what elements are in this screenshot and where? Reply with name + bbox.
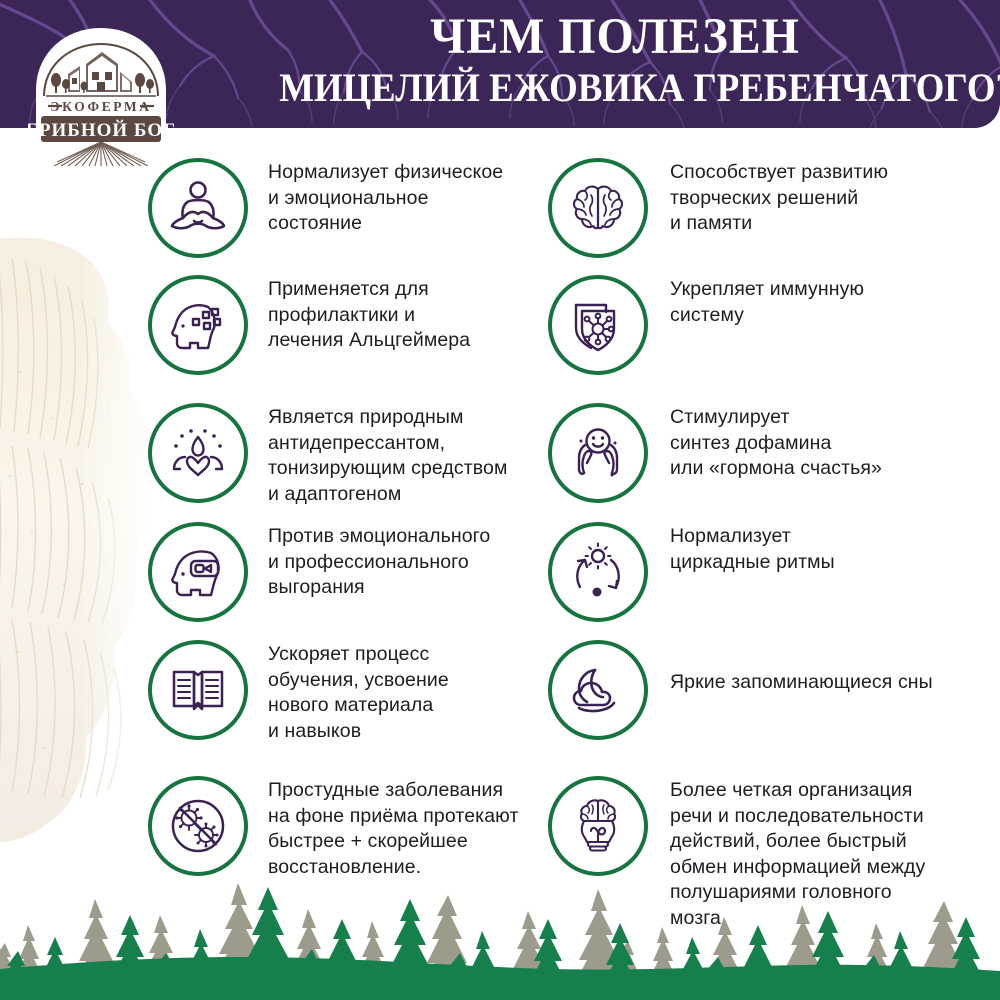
benefit-text: Нормализует физическое и эмоциональное с… xyxy=(268,160,568,237)
badge-circle xyxy=(548,522,648,622)
badge-circle xyxy=(548,403,648,503)
brain-icon xyxy=(569,179,627,237)
benefit-text: Против эмоционального и профессиональног… xyxy=(268,524,568,601)
badge-circle xyxy=(148,403,248,503)
badge-circle xyxy=(548,776,648,876)
badge-circle xyxy=(148,522,248,622)
benefit-text: Более четкая организация речи и последов… xyxy=(670,778,1000,931)
badge-circle xyxy=(148,275,248,375)
benefit-text: Является природным антидепрессантом, тон… xyxy=(268,405,568,507)
moon-cloud-dreams-icon xyxy=(568,660,628,720)
benefit-text: Ускоряет процесс обучения, усвоение ново… xyxy=(268,642,568,744)
benefit-text: Укрепляет иммунную систему xyxy=(670,277,1000,328)
logo-brand-name: ГРИБНОЙ БОГ xyxy=(28,119,174,141)
benefit-text: Способствует развитию творческих решений… xyxy=(670,160,1000,237)
benefit-text: Стимулирует синтез дофамина или «гормона… xyxy=(670,405,1000,482)
circadian-sun-cycle-icon xyxy=(568,542,628,602)
badge-circle xyxy=(548,158,648,258)
badge-circle xyxy=(148,640,248,740)
benefit-text: Нормализует циркадные ритмы xyxy=(670,524,1000,575)
head-vr-burnout-icon xyxy=(167,541,229,603)
benefit-text: Простудные заболевания на фоне приёма пр… xyxy=(268,778,568,880)
logo-top-label: ЭКОФЕРМА xyxy=(50,99,151,114)
badge-circle xyxy=(148,776,248,876)
shield-immunity-icon xyxy=(568,295,628,355)
badge-circle xyxy=(548,640,648,740)
benefit-text: Применяется для профилактики и лечения А… xyxy=(268,277,568,354)
brand-logo[interactable]: ЭКОФЕРМА ГРИБНОЙ БОГ xyxy=(28,26,174,166)
benefit-text: Яркие запоминающиеся сны xyxy=(670,670,1000,696)
no-virus-icon xyxy=(167,795,229,857)
open-book-icon xyxy=(169,661,227,719)
meditation-lotus-icon xyxy=(168,178,228,238)
badge-circle xyxy=(548,275,648,375)
badge-circle xyxy=(148,158,248,258)
antidepressant-heart-icon xyxy=(167,422,229,484)
head-pixels-alzheimer-icon xyxy=(168,295,228,355)
brain-lightbulb-icon xyxy=(569,797,627,855)
hands-smiley-dopamine-icon xyxy=(568,423,628,483)
